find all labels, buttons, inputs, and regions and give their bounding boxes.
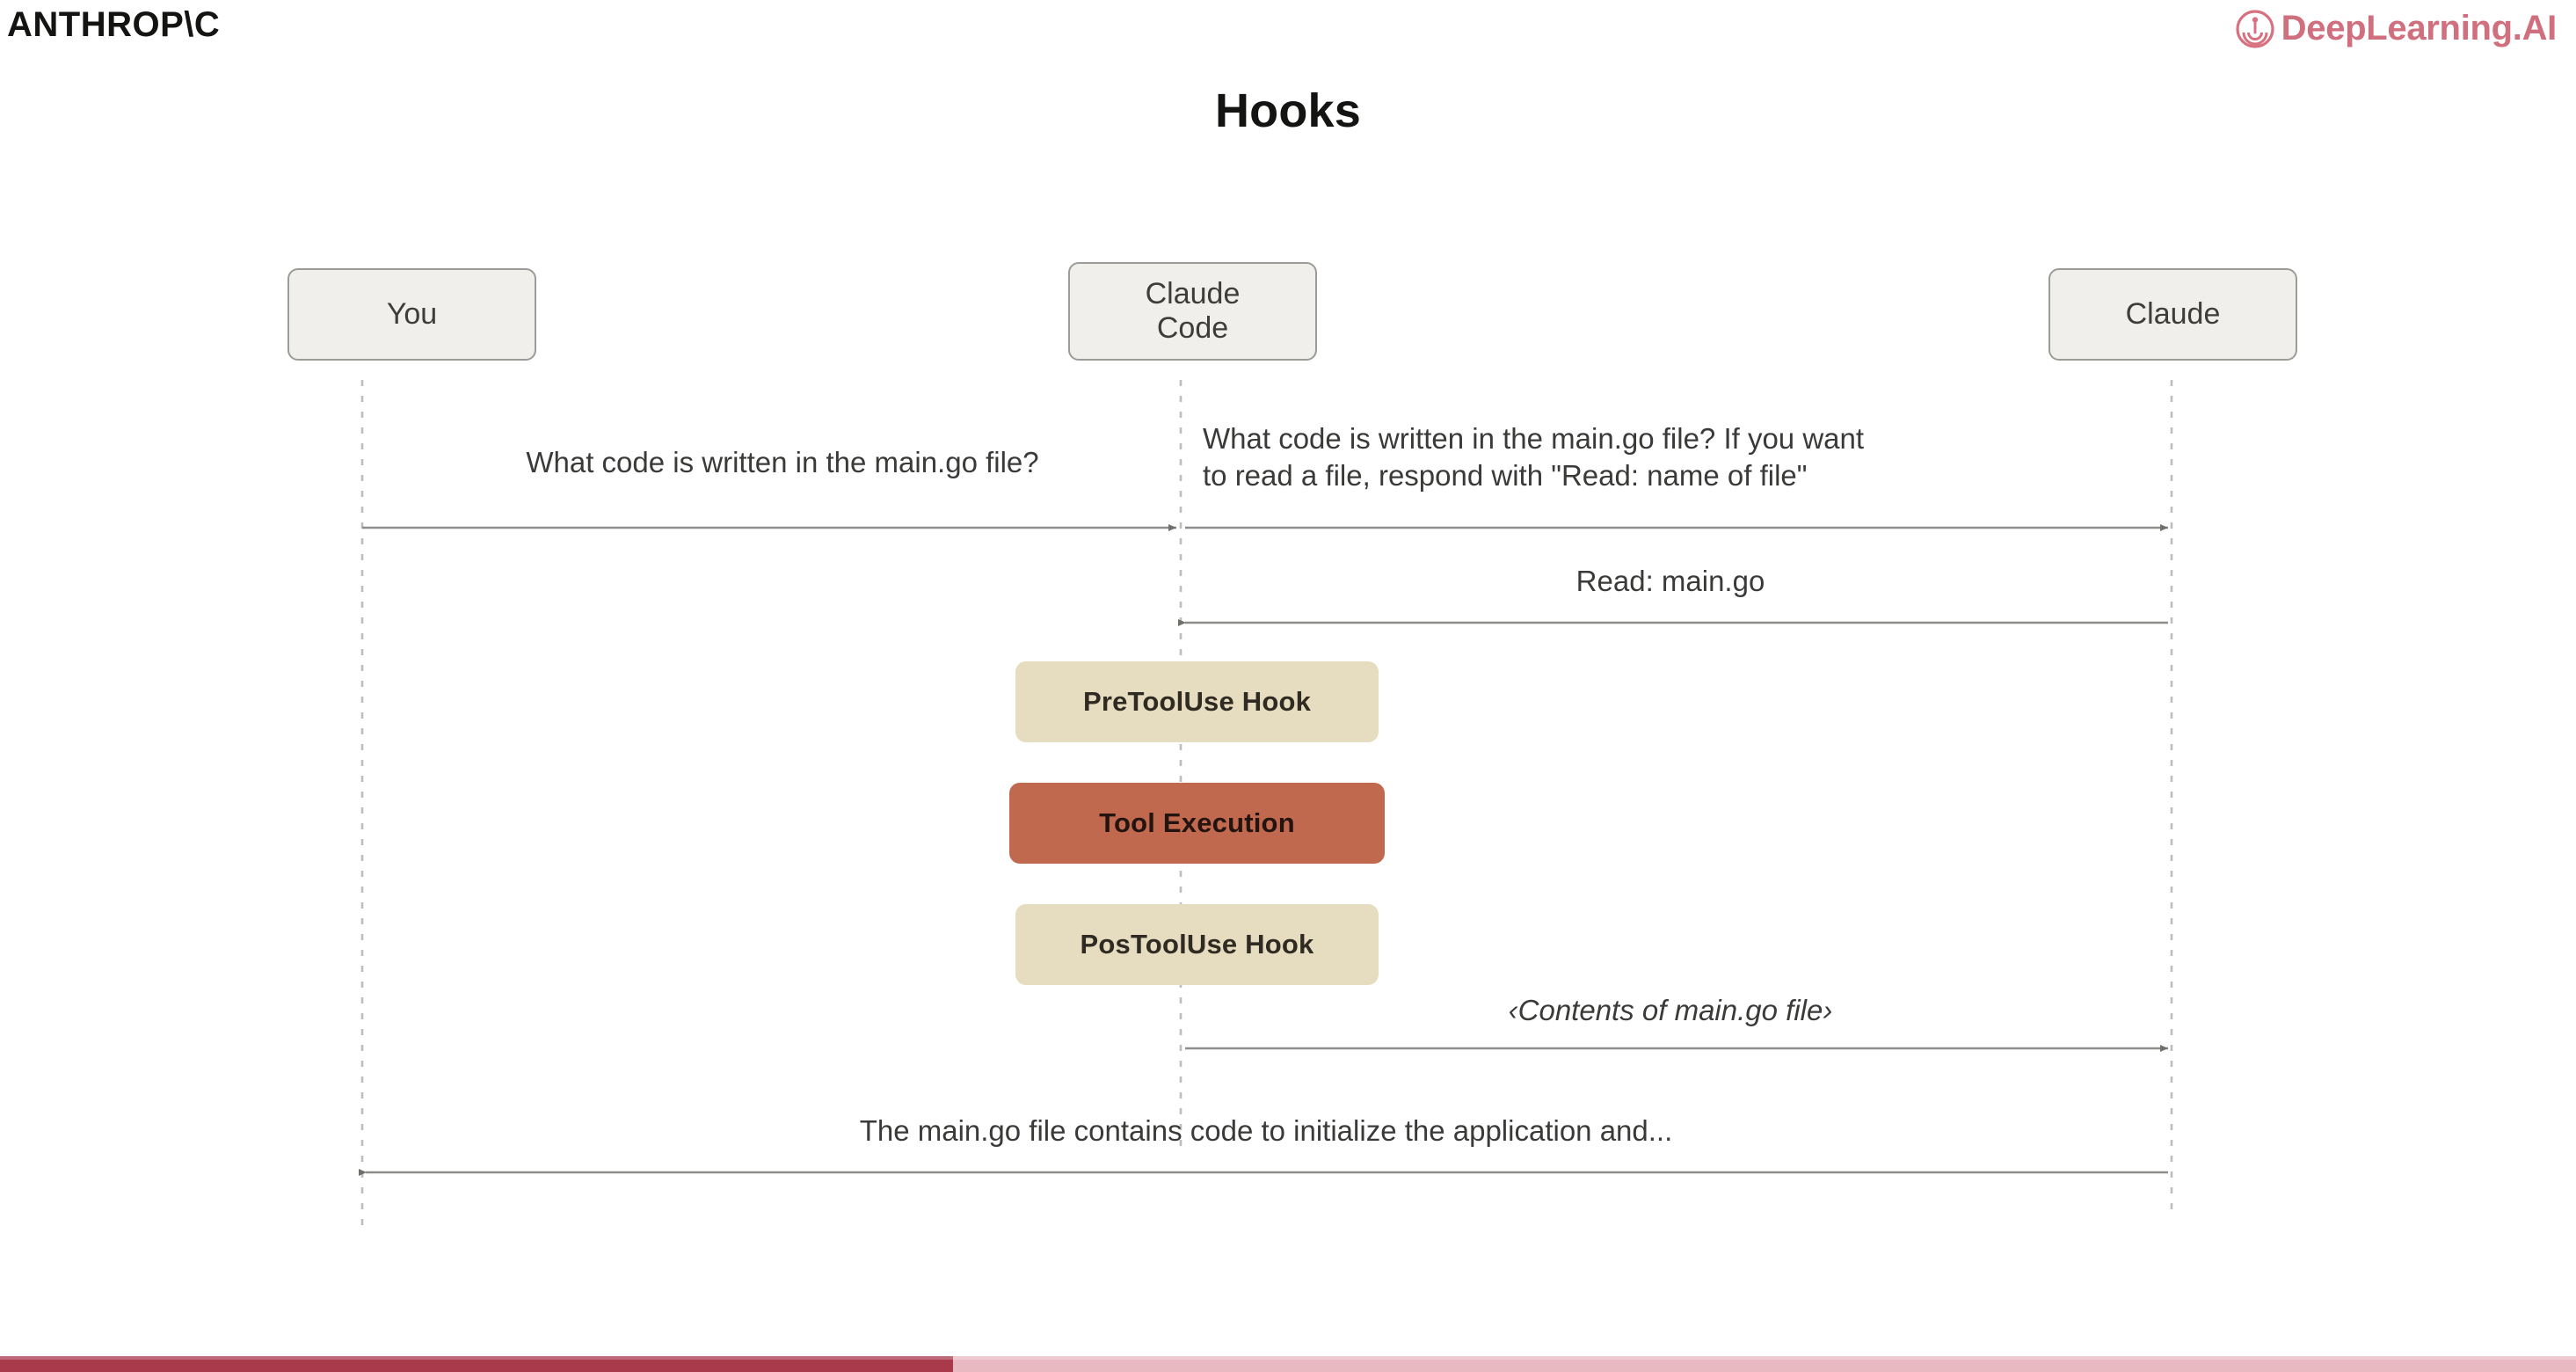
participant-claude-code[interactable]: Claude Code bbox=[1068, 262, 1317, 361]
participant-claude-code-label: Claude Code bbox=[1146, 277, 1241, 346]
step-tool-execution-label: Tool Execution bbox=[1099, 807, 1295, 839]
progress-bar[interactable] bbox=[0, 1356, 2576, 1372]
participant-you-label: You bbox=[387, 297, 437, 332]
step-post-tool-use-hook[interactable]: PosToolUse Hook bbox=[1015, 904, 1379, 985]
sequence-diagram: You Claude Code Claude What code is writ… bbox=[0, 0, 2576, 1372]
step-post-tool-use-hook-label: PosToolUse Hook bbox=[1081, 929, 1314, 960]
step-pre-tool-use-hook[interactable]: PreToolUse Hook bbox=[1015, 661, 1379, 742]
message-system-prompt: What code is written in the main.go file… bbox=[1203, 420, 2161, 494]
progress-bar-sheen bbox=[0, 1356, 2576, 1360]
step-pre-tool-use-hook-label: PreToolUse Hook bbox=[1083, 686, 1311, 718]
message-final-answer: The main.go file contains code to initia… bbox=[440, 1113, 2092, 1149]
step-tool-execution[interactable]: Tool Execution bbox=[1009, 783, 1385, 864]
message-read-request: Read: main.go bbox=[1231, 563, 2110, 600]
message-file-contents: ‹Contents of main.go file› bbox=[1231, 992, 2110, 1029]
participant-claude-label: Claude bbox=[2126, 297, 2221, 332]
participant-you[interactable]: You bbox=[287, 268, 536, 361]
participant-claude[interactable]: Claude bbox=[2048, 268, 2297, 361]
message-user-question: What code is written in the main.go file… bbox=[404, 444, 1161, 481]
